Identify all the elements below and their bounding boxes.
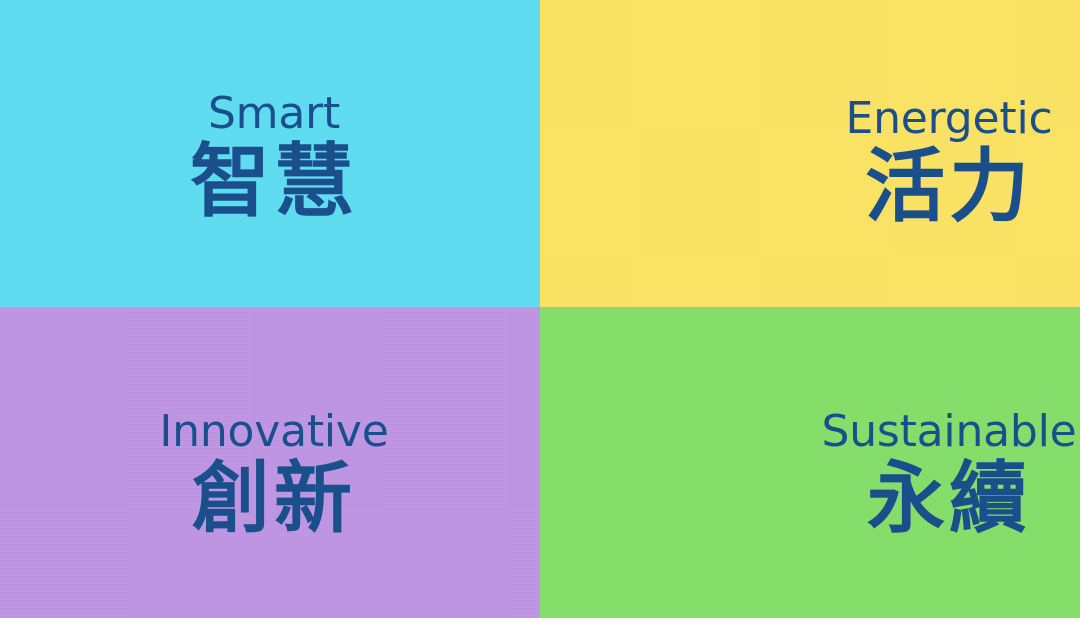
quadrant-energetic-label-zh: 活力 xyxy=(865,147,1033,227)
quadrant-sustainable-label-en: Sustainable xyxy=(821,410,1076,454)
brand-values-poster: Smart 智慧 Energetic 活力 Innovative 創新 Sust… xyxy=(0,0,1080,618)
quadrant-energetic-label-en: Energetic xyxy=(846,97,1053,141)
quadrant-sustainable-text-stack: Sustainable 永續 xyxy=(821,410,1076,538)
quadrant-innovative-text-stack: Innovative 創新 xyxy=(159,410,388,538)
quadrant-smart-label-en: Smart xyxy=(208,92,340,136)
quadrant-innovative: Innovative 創新 xyxy=(0,307,540,618)
quadrant-sustainable-label-zh: 永續 xyxy=(867,460,1031,538)
quadrant-sustainable: Sustainable 永續 xyxy=(540,307,1080,618)
quadrant-smart-label-zh: 智慧 xyxy=(190,142,358,222)
quadrant-innovative-label-en: Innovative xyxy=(159,410,388,454)
quadrant-energetic: Energetic 活力 xyxy=(540,0,1080,307)
quadrant-energetic-text-stack: Energetic 活力 xyxy=(846,97,1053,227)
quadrant-smart: Smart 智慧 xyxy=(0,0,540,307)
quadrant-smart-text-stack: Smart 智慧 xyxy=(190,92,358,222)
quadrant-innovative-label-zh: 創新 xyxy=(192,460,356,538)
